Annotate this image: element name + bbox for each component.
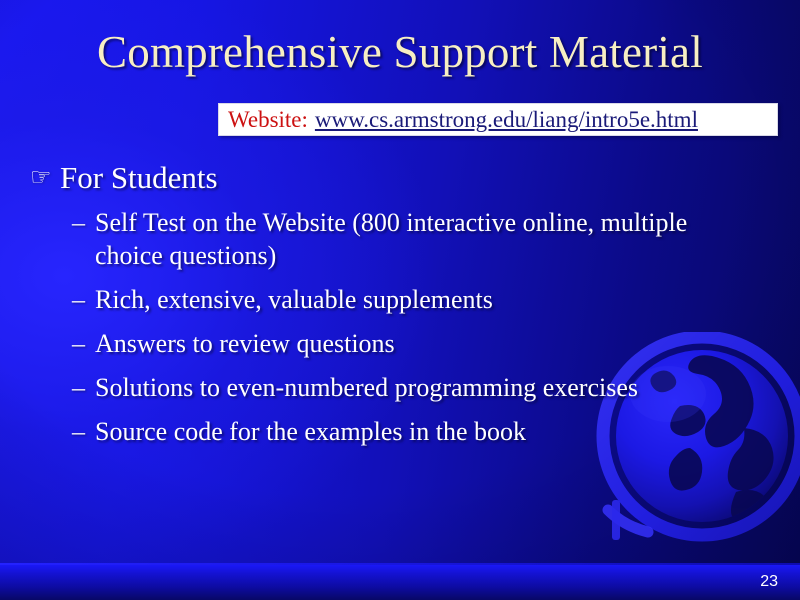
dash-icon: – bbox=[72, 327, 95, 360]
website-url-link[interactable]: www.cs.armstrong.edu/liang/intro5e.html bbox=[315, 108, 698, 131]
list-item-label: Self Test on the Website (800 interactiv… bbox=[95, 206, 755, 272]
dash-icon: – bbox=[72, 371, 95, 404]
list-item-label: Answers to review questions bbox=[95, 327, 395, 360]
list-item: – Rich, extensive, valuable supplements bbox=[0, 283, 800, 316]
list-item: – Source code for the examples in the bo… bbox=[0, 415, 800, 448]
dash-icon: – bbox=[72, 415, 95, 448]
website-callout-box: Website: www.cs.armstrong.edu/liang/intr… bbox=[218, 103, 778, 136]
pointing-hand-icon: ☞ bbox=[30, 158, 60, 198]
bullet-level1-label: For Students bbox=[60, 158, 218, 198]
slide-canvas: Comprehensive Support Material Website: … bbox=[0, 0, 800, 600]
footer-band bbox=[0, 565, 800, 600]
slide-title: Comprehensive Support Material bbox=[0, 28, 800, 78]
website-label: Website: bbox=[228, 108, 308, 131]
dash-icon: – bbox=[72, 283, 95, 316]
list-item: – Answers to review questions bbox=[0, 327, 800, 360]
list-item-label: Source code for the examples in the book bbox=[95, 415, 526, 448]
dash-icon: – bbox=[72, 206, 95, 239]
list-item-label: Solutions to even-numbered programming e… bbox=[95, 371, 638, 404]
sub-bullet-list: – Self Test on the Website (800 interact… bbox=[0, 206, 800, 448]
list-item-label: Rich, extensive, valuable supplements bbox=[95, 283, 493, 316]
list-item: – Solutions to even-numbered programming… bbox=[0, 371, 800, 404]
bullet-item-for-students: ☞ For Students bbox=[0, 158, 800, 198]
list-item: – Self Test on the Website (800 interact… bbox=[0, 206, 800, 272]
slide-body: ☞ For Students – Self Test on the Websit… bbox=[0, 158, 800, 459]
page-number: 23 bbox=[760, 572, 778, 592]
